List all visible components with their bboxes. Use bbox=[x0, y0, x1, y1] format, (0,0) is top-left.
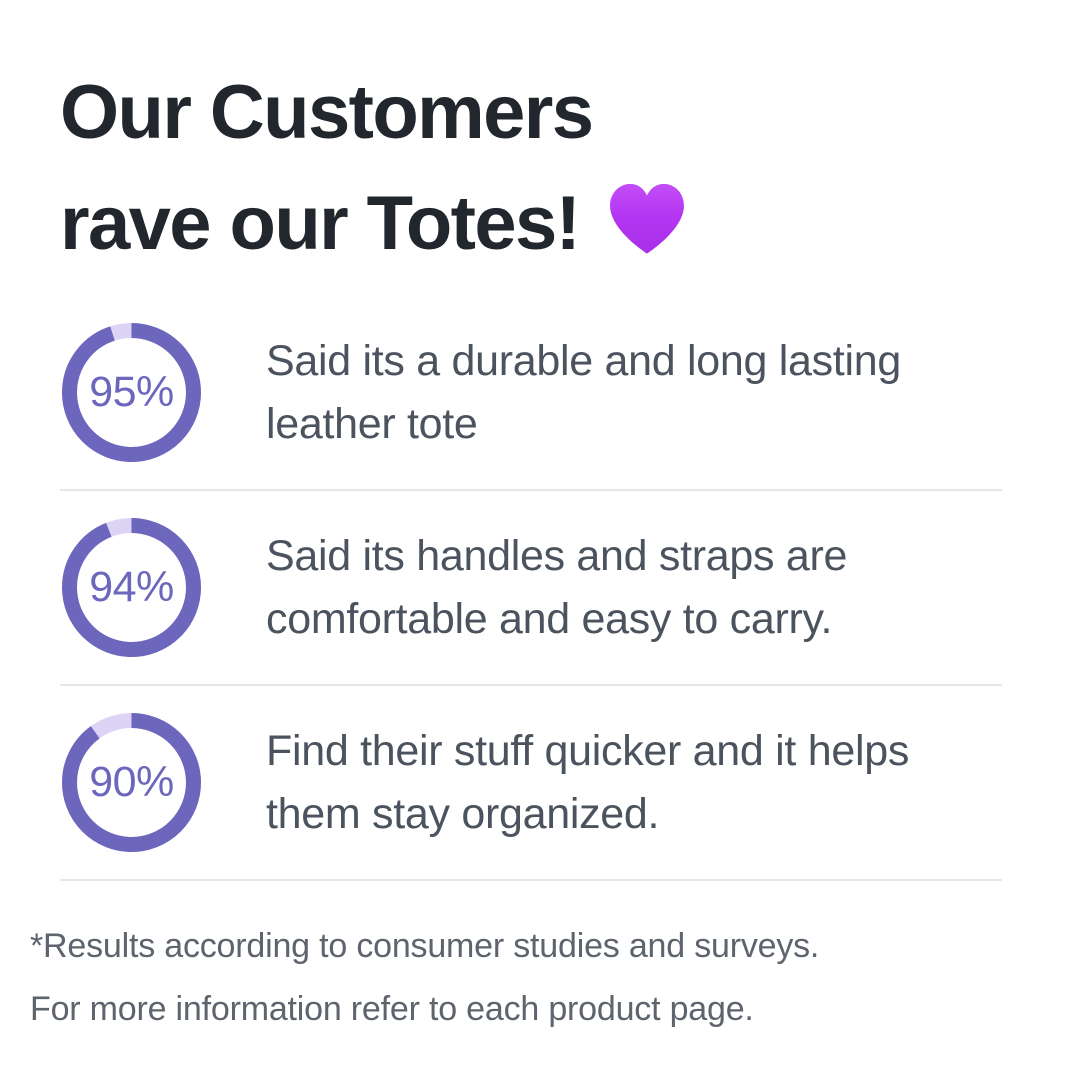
row-divider bbox=[60, 879, 1002, 881]
stat-row: 94% Said its handles and straps are comf… bbox=[60, 491, 1002, 684]
stat-description-2: Said its handles and straps are comforta… bbox=[266, 525, 1002, 650]
heading-line-1-text: Our Customers bbox=[60, 70, 592, 155]
donut-percent-label-1: 95% bbox=[62, 323, 201, 462]
footnote-line-2: For more information refer to each produ… bbox=[30, 978, 1050, 1041]
donut-percent-label-3: 90% bbox=[62, 713, 201, 852]
donut-chart-2: 94% bbox=[62, 518, 201, 657]
donut-wrap: 90% bbox=[60, 713, 266, 852]
footnote: *Results according to consumer studies a… bbox=[30, 915, 1050, 1041]
footnote-line-1: *Results according to consumer studies a… bbox=[30, 915, 1050, 978]
heading-line-2-text: rave our Totes! bbox=[60, 169, 579, 280]
heading-line-1: Our Customers bbox=[60, 58, 1020, 169]
stat-description-1: Said its a durable and long lasting leat… bbox=[266, 330, 1002, 455]
donut-percent-label-2: 94% bbox=[62, 518, 201, 657]
heading-line-2: rave our Totes! bbox=[60, 169, 1020, 280]
promo-stats-card: Our Customers rave our Totes! bbox=[0, 0, 1080, 1080]
purple-heart-icon bbox=[605, 178, 689, 262]
stats-list: 95% Said its a durable and long lasting … bbox=[60, 296, 1002, 881]
stat-row: 90% Find their stuff quicker and it help… bbox=[60, 686, 1002, 879]
donut-wrap: 94% bbox=[60, 518, 266, 657]
stat-row: 95% Said its a durable and long lasting … bbox=[60, 296, 1002, 489]
donut-chart-1: 95% bbox=[62, 323, 201, 462]
stat-description-3: Find their stuff quicker and it helps th… bbox=[266, 720, 1002, 845]
donut-chart-3: 90% bbox=[62, 713, 201, 852]
page-title: Our Customers rave our Totes! bbox=[60, 58, 1020, 280]
donut-wrap: 95% bbox=[60, 323, 266, 462]
